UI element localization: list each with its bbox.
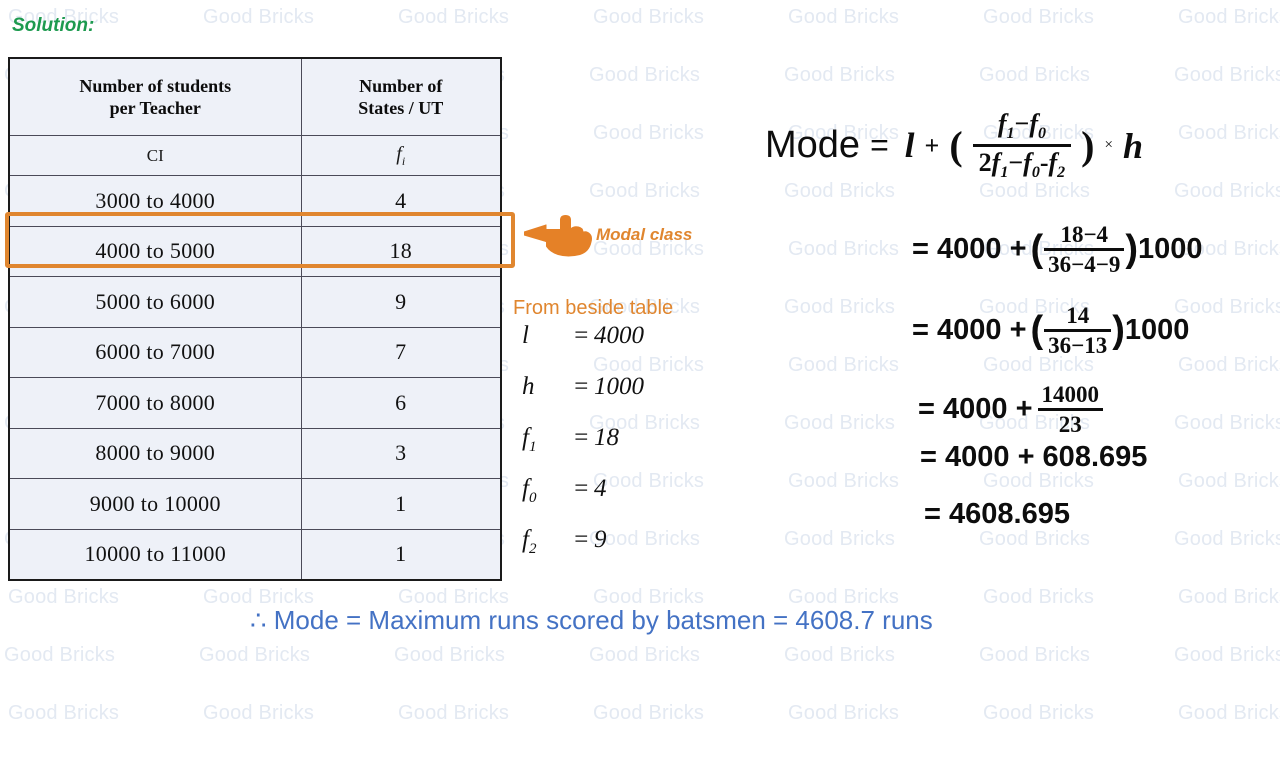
step-close-paren: ) <box>1125 228 1138 271</box>
formula-fraction: f1−f0 2f1−f0-f2 <box>973 110 1072 182</box>
step-lead: = 4000 + <box>912 233 1027 266</box>
cell-frequency: 1 <box>301 479 501 530</box>
cell-class-interval: 6000 to 7000 <box>9 327 301 378</box>
formula-fraction-bar <box>973 144 1072 147</box>
formula-l-symbol: l <box>905 126 915 166</box>
step-fraction-bar <box>1044 329 1111 332</box>
cell-class-interval: 3000 to 4000 <box>9 176 301 227</box>
pointing-hand-icon <box>520 212 594 258</box>
step-fraction-bar <box>1044 248 1124 251</box>
cell-class-interval: 10000 to 11000 <box>9 529 301 580</box>
variable-value: 9 <box>594 526 607 554</box>
slide-stage: Solution: Number of students per Teacher… <box>0 0 1280 720</box>
header-freq-line1: Number of <box>306 75 497 97</box>
formula-open-paren: ( <box>949 122 962 169</box>
header-freq-line2: States / UT <box>306 97 497 119</box>
formula-times: × <box>1104 137 1112 154</box>
variable-subscript: 0 <box>529 490 537 506</box>
frequency-table: Number of students per Teacher Number of… <box>8 57 502 581</box>
variable-subscript: 1 <box>529 439 537 455</box>
variable-value: 1000 <box>594 373 644 401</box>
variable-row: l=4000 <box>522 322 644 373</box>
variable-name: h <box>522 373 568 401</box>
formula-h-symbol: h <box>1123 125 1143 167</box>
variable-equals: = <box>568 373 594 401</box>
variable-definitions-list: l=4000h=1000f1=18f0=4f2=9 <box>522 322 644 577</box>
calculation-step-1: = 4000 +(18−436−4−9)1000 <box>912 222 1203 278</box>
header-cell-ci: Number of students per Teacher <box>9 58 301 136</box>
calculation-step-4: = 4000 + 608.695 <box>920 441 1147 474</box>
step-close-paren: ) <box>1112 309 1125 352</box>
calculation-step-3: = 4000 +1400023 <box>918 382 1104 438</box>
solution-label: Solution: <box>12 15 94 37</box>
conclusion-line: ∴ Mode = Maximum runs scored by batsmen … <box>250 605 933 636</box>
modal-class-label: Modal class <box>596 225 692 245</box>
table-row: 7000 to 80006 <box>9 378 501 429</box>
subheader-f-subscript: i <box>402 154 405 168</box>
modal-class-pointer: Modal class <box>520 212 692 258</box>
variable-subscript: 2 <box>529 541 537 557</box>
mode-formula: Mode = l + ( f1−f0 2f1−f0-f2 ) × h <box>765 110 1143 182</box>
variable-row: f2=9 <box>522 526 644 577</box>
variable-row: h=1000 <box>522 373 644 424</box>
table-row: 5000 to 60009 <box>9 277 501 328</box>
header-ci-line1: Number of students <box>14 75 297 97</box>
cell-frequency: 18 <box>301 226 501 277</box>
step-fraction-bar <box>1038 408 1104 411</box>
formula-close-paren: ) <box>1081 122 1094 169</box>
table-body: 3000 to 400044000 to 5000185000 to 60009… <box>9 176 501 581</box>
cell-class-interval: 4000 to 5000 <box>9 226 301 277</box>
table-header-row: Number of students per Teacher Number of… <box>9 58 501 136</box>
variable-name: f0 <box>522 475 568 507</box>
cell-frequency: 1 <box>301 529 501 580</box>
cell-class-interval: 8000 to 9000 <box>9 428 301 479</box>
formula-equals: = <box>870 127 889 164</box>
cell-class-interval: 9000 to 10000 <box>9 479 301 530</box>
variable-row: f1=18 <box>522 424 644 475</box>
formula-denominator: 2f1−f0-f2 <box>973 149 1072 181</box>
variable-equals: = <box>568 475 594 503</box>
step-denominator: 36−4−9 <box>1044 252 1124 277</box>
table-row: 9000 to 100001 <box>9 479 501 530</box>
header-ci-line2: per Teacher <box>14 97 297 119</box>
variable-name: f2 <box>522 526 568 558</box>
step-numerator: 14 <box>1062 303 1093 328</box>
from-beside-table-note: From beside table <box>513 297 673 320</box>
formula-plus: + <box>924 131 939 161</box>
subheader-cell-ci: CI <box>9 136 301 176</box>
variable-name: f1 <box>522 424 568 456</box>
cell-class-interval: 7000 to 8000 <box>9 378 301 429</box>
header-cell-frequency: Number of States / UT <box>301 58 501 136</box>
cell-class-interval: 5000 to 6000 <box>9 277 301 328</box>
cell-frequency: 3 <box>301 428 501 479</box>
calculation-step-5: = 4608.695 <box>924 498 1070 531</box>
formula-numerator: f1−f0 <box>992 110 1052 142</box>
table-row: 3000 to 40004 <box>9 176 501 227</box>
variable-value: 4 <box>594 475 607 503</box>
step-lead: = 4000 + <box>912 314 1027 347</box>
subheader-cell-fi: fi <box>301 136 501 176</box>
variable-value: 4000 <box>594 322 644 350</box>
variable-name: l <box>522 322 568 350</box>
variable-equals: = <box>568 424 594 452</box>
variable-equals: = <box>568 526 594 554</box>
step-fraction: 1400023 <box>1038 382 1104 438</box>
step-lead: = 4000 + <box>918 393 1033 426</box>
table-subheader-row: CI fi <box>9 136 501 176</box>
cell-frequency: 9 <box>301 277 501 328</box>
cell-frequency: 6 <box>301 378 501 429</box>
calculation-step-2: = 4000 +(1436−13)1000 <box>912 303 1189 359</box>
table-row: 4000 to 500018 <box>9 226 501 277</box>
step-denominator: 23 <box>1055 412 1086 437</box>
step-open-paren: ( <box>1031 309 1044 352</box>
step-denominator: 36−13 <box>1044 333 1111 358</box>
step-numerator: 18−4 <box>1056 222 1112 247</box>
step-fraction: 1436−13 <box>1044 303 1111 359</box>
cell-frequency: 4 <box>301 176 501 227</box>
cell-frequency: 7 <box>301 327 501 378</box>
variable-row: f0=4 <box>522 475 644 526</box>
variable-equals: = <box>568 322 594 350</box>
variable-value: 18 <box>594 424 619 452</box>
table-row: 6000 to 70007 <box>9 327 501 378</box>
step-numerator: 14000 <box>1038 382 1104 407</box>
table-row: 10000 to 110001 <box>9 529 501 580</box>
step-tail: 1000 <box>1138 233 1203 266</box>
step-tail: 1000 <box>1125 314 1190 347</box>
formula-mode-word: Mode <box>765 124 860 167</box>
step-open-paren: ( <box>1031 228 1044 271</box>
step-fraction: 18−436−4−9 <box>1044 222 1124 278</box>
table-row: 8000 to 90003 <box>9 428 501 479</box>
